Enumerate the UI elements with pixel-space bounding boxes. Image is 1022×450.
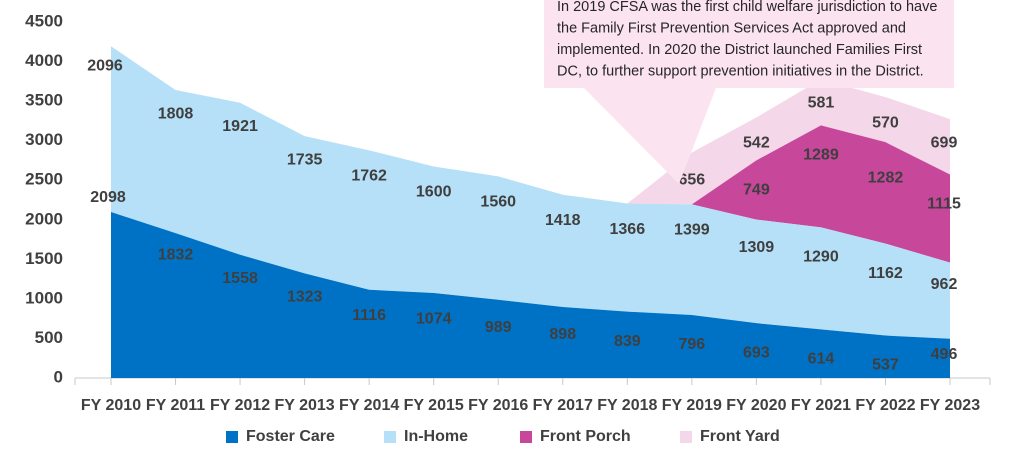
- x-axis-tick-label: FY 2018: [597, 397, 657, 414]
- data-label-front-porch: 1282: [868, 169, 904, 186]
- legend-label: In-Home: [404, 428, 468, 445]
- y-axis-tick-label: 3000: [25, 130, 63, 149]
- annotation-line: DC, to further support prevention initia…: [557, 64, 924, 80]
- x-axis-tick-label: FY 2021: [791, 397, 851, 414]
- legend-label: Foster Care: [246, 428, 335, 445]
- data-label-front-yard: 581: [808, 95, 835, 112]
- data-label-in-home: 1735: [287, 151, 323, 168]
- data-label-in-home: 1366: [610, 221, 646, 238]
- data-label-front-porch: 1115: [927, 196, 961, 213]
- x-axis-tick-label: FY 2013: [275, 397, 335, 414]
- chart-canvas: 050010001500200025003000350040004500 209…: [0, 0, 1022, 450]
- y-axis-tick-label: 2000: [25, 209, 63, 228]
- data-label-foster-care: 537: [872, 357, 899, 374]
- x-axis-tick-label: FY 2022: [855, 397, 915, 414]
- x-axis-tick-label: FY 2017: [533, 397, 593, 414]
- data-label-in-home: 1399: [674, 222, 710, 239]
- data-label-in-home: 962: [931, 276, 958, 293]
- x-axis-tick-label: FY 2015: [404, 397, 464, 414]
- data-label-front-porch: 749: [743, 182, 770, 199]
- data-label-front-yard: 699: [931, 134, 958, 151]
- data-label-foster-care: 1074: [416, 310, 452, 327]
- legend-swatch: [226, 431, 238, 443]
- axis-lines: [75, 378, 990, 385]
- legend-swatch: [520, 431, 532, 443]
- y-axis-tick-label: 4500: [25, 11, 63, 30]
- data-label-foster-care: 1323: [287, 289, 323, 306]
- data-label-in-home: 1309: [739, 239, 775, 256]
- legend-label: Front Yard: [700, 428, 780, 445]
- y-axis-tick-labels: 050010001500200025003000350040004500: [25, 11, 63, 386]
- x-axis-tick-label: FY 2014: [339, 397, 399, 414]
- y-axis-tick-label: 3500: [25, 91, 63, 110]
- data-label-front-yard: 542: [743, 135, 770, 152]
- y-axis-tick-label: 0: [54, 367, 63, 386]
- data-label-in-home: 1762: [351, 168, 387, 185]
- data-label-foster-care: 1832: [158, 246, 194, 263]
- data-label-in-home: 1290: [803, 249, 839, 266]
- data-label-foster-care: 1116: [352, 307, 386, 324]
- data-label-in-home: 1560: [480, 194, 516, 211]
- y-axis-tick-label: 500: [35, 328, 63, 347]
- stacked-area-chart: 050010001500200025003000350040004500 209…: [0, 0, 1022, 450]
- data-label-foster-care: 496: [931, 346, 958, 363]
- data-label-foster-care: 2098: [90, 189, 126, 206]
- x-axis-tick-label: FY 2023: [920, 397, 980, 414]
- annotation-line: the Family First Prevention Services Act…: [557, 21, 906, 37]
- data-label-foster-care: 989: [485, 319, 512, 336]
- y-axis-tick-label: 2500: [25, 170, 63, 189]
- data-label-foster-care: 898: [549, 326, 576, 343]
- data-label-in-home: 2096: [87, 57, 123, 74]
- data-label-foster-care: 796: [678, 336, 705, 353]
- chart-legend: Foster CareIn-HomeFront PorchFront Yard: [226, 428, 780, 445]
- x-axis-tick-label: FY 2020: [726, 397, 786, 414]
- x-axis-tick-label: FY 2016: [468, 397, 528, 414]
- data-label-foster-care: 1558: [222, 270, 258, 287]
- data-label-foster-care: 614: [808, 351, 835, 368]
- legend-label: Front Porch: [540, 428, 631, 445]
- data-label-in-home: 1600: [416, 184, 452, 201]
- data-label-front-porch: 1289: [803, 147, 839, 164]
- data-label-front-yard: 570: [872, 114, 899, 131]
- y-axis-tick-label: 4000: [25, 51, 63, 70]
- legend-swatch: [384, 431, 396, 443]
- data-label-foster-care: 839: [614, 333, 641, 350]
- x-axis-tick-label: FY 2012: [210, 397, 270, 414]
- data-label-in-home: 1808: [158, 105, 194, 122]
- data-label-foster-care: 693: [743, 344, 770, 361]
- x-axis-tick-label: FY 2010: [81, 397, 141, 414]
- legend-swatch: [680, 431, 692, 443]
- annotation-line: implemented. In 2020 the District launch…: [557, 42, 922, 58]
- y-axis-tick-label: 1000: [25, 288, 63, 307]
- annotation-line: In 2019 CFSA was the first child welfare…: [557, 0, 937, 15]
- data-label-in-home: 1921: [222, 118, 258, 135]
- x-axis-tick-label: FY 2019: [662, 397, 722, 414]
- x-axis-tick-label: FY 2011: [146, 397, 205, 414]
- data-label-in-home: 1162: [868, 265, 903, 282]
- y-axis-tick-label: 1500: [25, 249, 63, 268]
- x-axis-tick-labels: FY 2010FY 2011FY 2012FY 2013FY 2014FY 20…: [81, 397, 980, 414]
- data-label-in-home: 1418: [545, 212, 581, 229]
